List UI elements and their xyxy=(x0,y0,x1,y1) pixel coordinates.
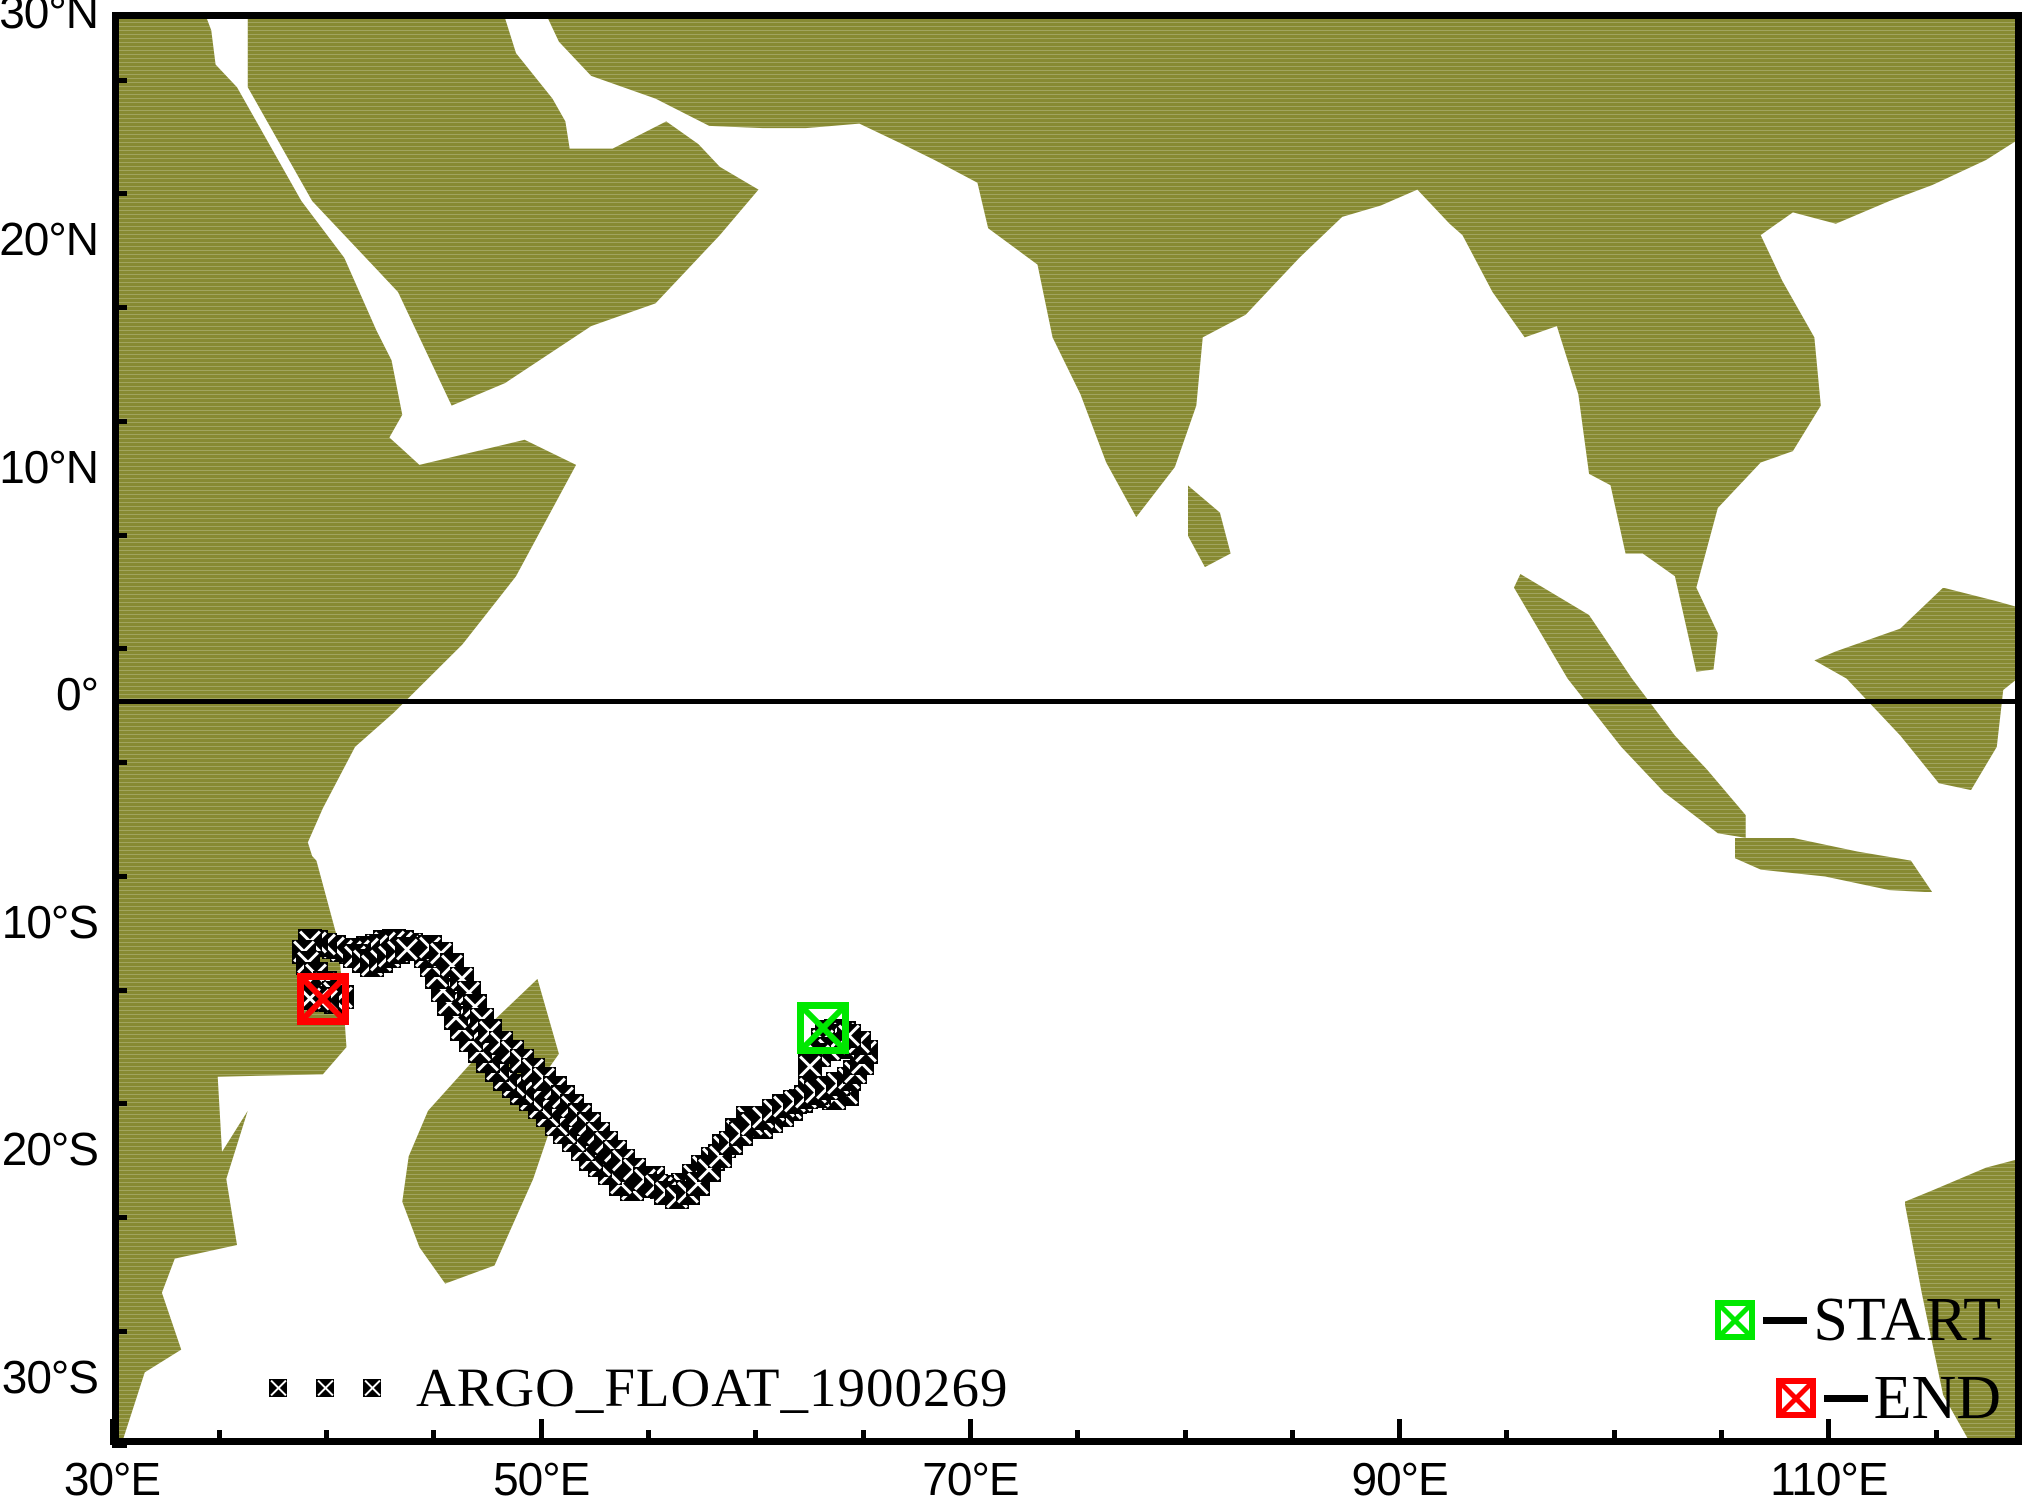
x-tick-60 xyxy=(753,1430,758,1445)
square-x-marker-icon xyxy=(363,1379,381,1397)
y-tick--28 xyxy=(112,1329,127,1334)
legend-row-start: START xyxy=(1715,1281,2001,1359)
y-tick--13 xyxy=(112,988,127,993)
x-tick-55 xyxy=(646,1430,651,1445)
green-square-x-marker-icon xyxy=(1715,1300,1755,1340)
x-tick-95 xyxy=(1504,1430,1509,1445)
x-tick-100 xyxy=(1612,1430,1617,1445)
y-axis-label--10: 10°S xyxy=(2,895,98,949)
x-tick-105 xyxy=(1719,1430,1724,1445)
red-square-x-marker-icon xyxy=(1776,1378,1816,1418)
x-tick-85 xyxy=(1290,1430,1295,1445)
y-tick--33 xyxy=(112,1443,127,1448)
x-tick-90 xyxy=(1397,1419,1402,1445)
square-x-marker-icon xyxy=(269,1379,287,1397)
y-tick--18 xyxy=(112,1101,127,1106)
y-axis-label-0: 0° xyxy=(56,667,98,721)
legend-start-label: START xyxy=(1813,1289,2001,1351)
x-axis-label-70: 70°E xyxy=(922,1452,1018,1506)
y-axis-label--20: 20°S xyxy=(2,1122,98,1176)
y-axis-label-30: 30°N xyxy=(0,0,98,39)
float-position-marker xyxy=(395,937,419,961)
dash-line-icon xyxy=(1824,1395,1868,1402)
y-axis-label--30: 30°S xyxy=(2,1350,98,1404)
y-axis-label-10: 10°N xyxy=(0,440,98,494)
x-tick-65 xyxy=(861,1430,866,1445)
end-position-marker xyxy=(297,973,349,1025)
x-tick-115 xyxy=(1934,1430,1939,1445)
y-tick-12 xyxy=(112,419,127,424)
float-legend-label: ARGO_FLOAT_1900269 xyxy=(416,1356,1008,1419)
y-tick--3 xyxy=(112,760,127,765)
y-tick-22 xyxy=(112,191,127,196)
x-tick-80 xyxy=(1183,1430,1188,1445)
float-position-marker xyxy=(798,1054,822,1078)
x-tick-35 xyxy=(217,1430,222,1445)
float-legend: ARGO_FLOAT_1900269 xyxy=(269,1356,1008,1419)
y-tick-27 xyxy=(112,78,127,83)
argo-float-trajectory-map: START END ARGO_FLOAT_1900269 30°E50°E70°… xyxy=(0,0,2026,1494)
x-tick-70 xyxy=(968,1419,973,1445)
square-x-marker-icon xyxy=(316,1379,334,1397)
x-tick-50 xyxy=(539,1419,544,1445)
x-axis-label-90: 90°E xyxy=(1352,1452,1448,1506)
equator-line xyxy=(119,699,2015,704)
legend-row-end: END xyxy=(1715,1359,2001,1437)
y-tick-17 xyxy=(112,305,127,310)
x-axis-label-30: 30°E xyxy=(64,1452,160,1506)
y-axis-label-20: 20°N xyxy=(0,212,98,266)
start-end-legend: START END xyxy=(1715,1281,2001,1437)
x-tick-45 xyxy=(431,1430,436,1445)
map-plot-frame[interactable]: START END ARGO_FLOAT_1900269 xyxy=(112,12,2022,1445)
y-tick-7 xyxy=(112,533,127,538)
x-tick-110 xyxy=(1826,1419,1831,1445)
y-tick-2 xyxy=(112,646,127,651)
x-tick-75 xyxy=(1075,1430,1080,1445)
start-position-marker xyxy=(797,1002,849,1054)
dash-line-icon xyxy=(1763,1317,1807,1324)
y-tick--8 xyxy=(112,874,127,879)
x-tick-40 xyxy=(324,1430,329,1445)
legend-end-label: END xyxy=(1874,1367,2001,1429)
x-axis-label-50: 50°E xyxy=(493,1452,589,1506)
x-tick-30 xyxy=(110,1419,115,1445)
y-tick--23 xyxy=(112,1215,127,1220)
x-axis-label-110: 110°E xyxy=(1770,1452,1887,1506)
